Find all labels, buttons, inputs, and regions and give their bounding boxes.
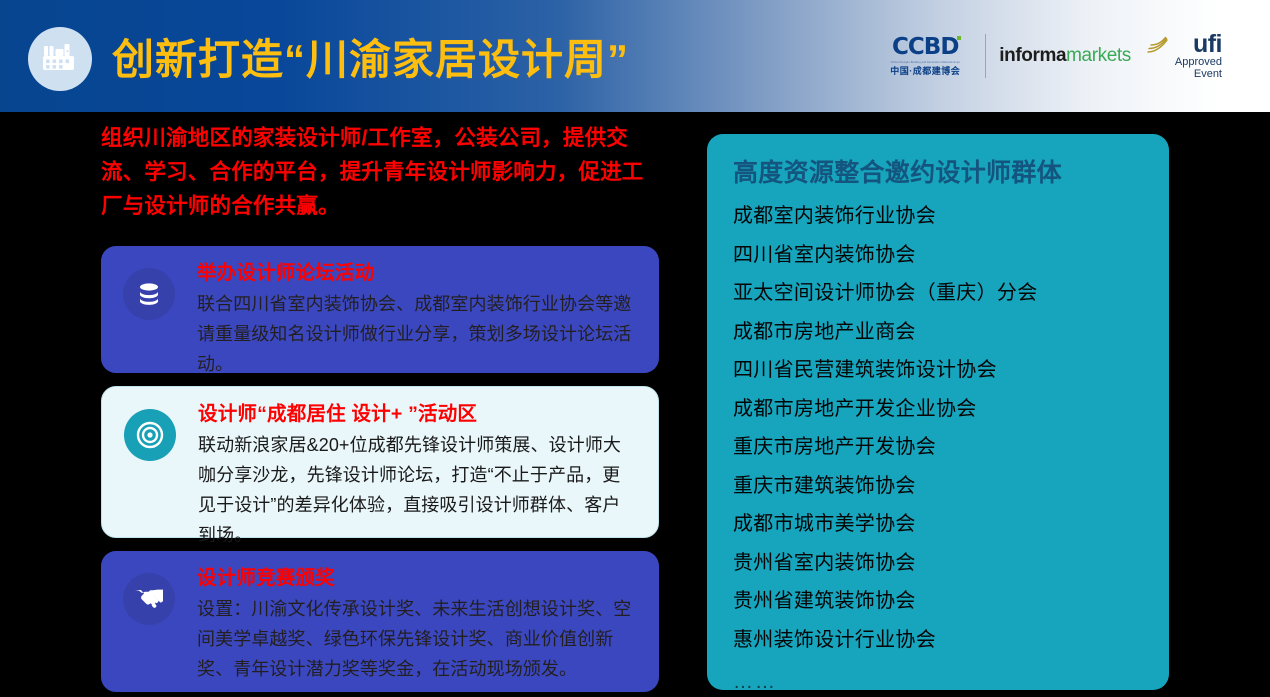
logo-divider [985, 34, 986, 78]
feature-card-forum: 举办设计师论坛活动 联合四川省室内装饰协会、成都室内装饰行业协会等邀请重量级知名… [101, 246, 659, 373]
card-title: 设计师竞赛颁奖 [197, 565, 639, 592]
card-text: 设置：川渝文化传承设计奖、未来生活创想设计奖、空间美学卓越奖、绿色环保先锋设计奖… [197, 594, 639, 684]
page-title: 创新打造“川渝家居设计周” [112, 36, 629, 84]
ufi-swoosh-icon [1146, 36, 1174, 63]
factory-building-icon [28, 27, 92, 91]
informa-markets-logo: informa markets [999, 46, 1131, 66]
lead-paragraph: 组织川渝地区的家装设计师/工作室，公装公司，提供交流、学习、合作的平台，提升青年… [101, 121, 663, 223]
ccbd-tagline-en: China Chengdu Building and Decoration Ma… [891, 61, 960, 64]
list-item: 四川省室内装饰协会 [733, 236, 1169, 275]
markets-word: markets [1066, 46, 1131, 66]
panel-title: 高度资源整合邀约设计师群体 [733, 156, 1169, 190]
logo-group: CCBD China Chengdu Building and Decorati… [890, 28, 1222, 84]
list-item: 重庆市建筑装饰协会 [733, 467, 1169, 506]
list-item: 重庆市房地产开发协会 [733, 428, 1169, 467]
handshake-icon [123, 573, 175, 625]
card-title: 设计师“成都居住 设计+ ”活动区 [198, 401, 638, 428]
ufi-mark: ufi [1193, 32, 1222, 56]
list-item: 四川省民营建筑装饰设计协会 [733, 351, 1169, 390]
list-item: 亚太空间设计师协会（重庆）分会 [733, 274, 1169, 313]
ccbd-mark-text: CCBD [892, 34, 958, 60]
list-item: 成都市房地产业商会 [733, 313, 1169, 352]
card-text: 联动新浪家居&20+位成都先锋设计师策展、设计师大咖分享沙龙，先锋设计师论坛，打… [198, 430, 638, 550]
list-ellipsis: …… [733, 659, 1169, 690]
card-text: 联合四川省室内装饰协会、成都室内装饰行业协会等邀请重量级知名设计师做行业分享，策… [197, 289, 639, 379]
bullseye-target-icon [124, 409, 176, 461]
list-item: 惠州装饰设计行业协会 [733, 621, 1169, 660]
feature-card-activity-zone: 设计师“成都居住 设计+ ”活动区 联动新浪家居&20+位成都先锋设计师策展、设… [101, 386, 659, 538]
database-stack-icon [123, 268, 175, 320]
list-item: 成都市房地产开发企业协会 [733, 390, 1169, 429]
associations-list: 成都室内装饰行业协会 四川省室内装饰协会 亚太空间设计师协会（重庆）分会 成都市… [733, 197, 1169, 690]
list-item: 贵州省建筑装饰协会 [733, 582, 1169, 621]
feature-card-award: 设计师竞赛颁奖 设置：川渝文化传承设计奖、未来生活创想设计奖、空间美学卓越奖、绿… [101, 551, 659, 692]
list-item: 成都室内装饰行业协会 [733, 197, 1169, 236]
associations-panel: 高度资源整合邀约设计师群体 成都室内装饰行业协会 四川省室内装饰协会 亚太空间设… [707, 134, 1169, 690]
ufi-approved-event-logo: ufi Approved Event [1146, 32, 1222, 80]
ufi-approved-label: Approved [1175, 56, 1222, 68]
ufi-event-label: Event [1194, 68, 1222, 80]
informa-word: informa [999, 46, 1066, 66]
ccbd-mark: CCBD [892, 35, 958, 59]
ccbd-logo: CCBD China Chengdu Building and Decorati… [890, 35, 972, 76]
page-header: 创新打造“川渝家居设计周” CCBD China Chengdu Buildin… [0, 0, 1270, 112]
ccbd-green-dot [957, 36, 961, 40]
list-item: 成都市城市美学协会 [733, 505, 1169, 544]
ccbd-name-cn: 中国·成都建博会 [890, 66, 960, 77]
list-item: 贵州省室内装饰协会 [733, 544, 1169, 583]
card-title: 举办设计师论坛活动 [197, 260, 639, 287]
